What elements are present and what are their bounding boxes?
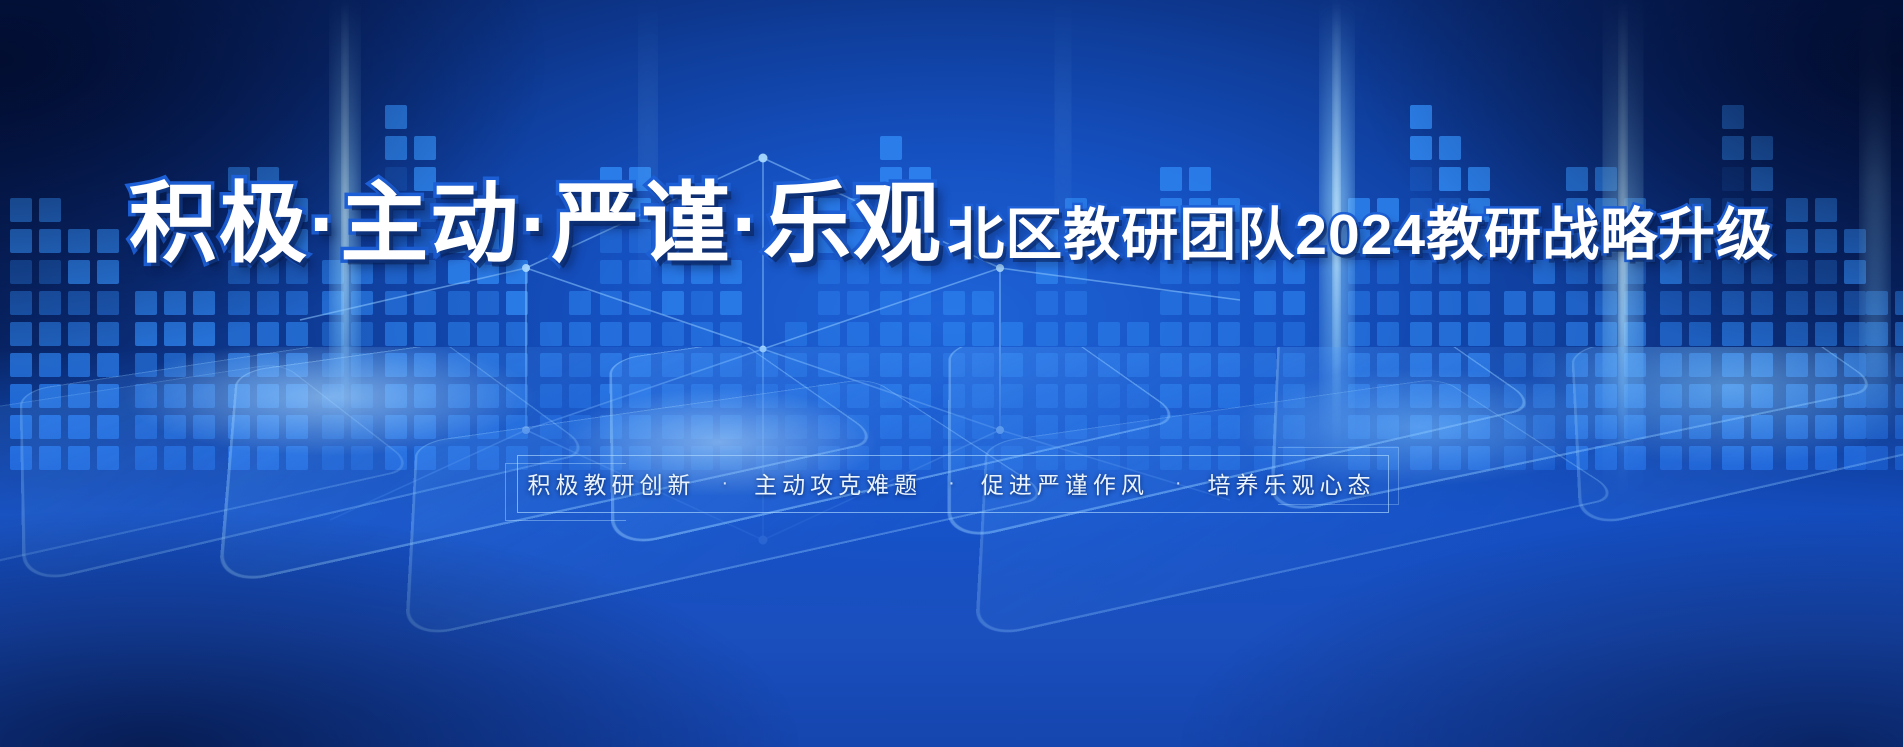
skyline-block: [68, 446, 90, 470]
skyline-block: [569, 384, 591, 408]
skyline-block: [691, 291, 713, 315]
skyline-block: [1160, 291, 1182, 315]
skyline-block: [1533, 446, 1555, 470]
skyline-bar: [1895, 291, 1903, 470]
skyline-block: [322, 384, 344, 408]
skyline-block: [691, 322, 713, 346]
skyline-block: [600, 322, 622, 346]
skyline-block: [10, 322, 32, 346]
skyline-block: [164, 291, 186, 315]
skyline-block: [785, 322, 807, 346]
skyline-block: [414, 136, 436, 160]
skyline-block: [1689, 446, 1711, 470]
skyline-block: [97, 384, 119, 408]
skyline-block: [97, 415, 119, 439]
skyline-bar: [193, 291, 215, 470]
skyline-block: [662, 353, 684, 377]
skyline-block: [1689, 415, 1711, 439]
skyline-block: [1189, 353, 1211, 377]
skyline-block: [1254, 384, 1276, 408]
skyline-block: [1844, 353, 1866, 377]
skyline-block: [1844, 291, 1866, 315]
skyline-block: [785, 353, 807, 377]
skyline-block: [1751, 415, 1773, 439]
skyline-block: [135, 291, 157, 315]
skyline-block: [756, 415, 778, 439]
skyline-block: [1786, 322, 1808, 346]
skyline-block: [1751, 446, 1773, 470]
skyline-block: [1722, 384, 1744, 408]
skyline-block: [164, 446, 186, 470]
skyline-block: [477, 415, 499, 439]
skyline-block: [1815, 415, 1837, 439]
skyline-block: [10, 353, 32, 377]
skyline-block: [1660, 322, 1682, 346]
skyline-block: [193, 322, 215, 346]
skyline-block: [1127, 322, 1149, 346]
skyline-block: [1410, 136, 1432, 160]
skyline-block: [972, 415, 994, 439]
skyline-block: [1786, 353, 1808, 377]
light-beams-decoration: [0, 0, 1903, 747]
skyline-block: [1001, 353, 1023, 377]
skyline-block: [322, 291, 344, 315]
skyline-block: [818, 415, 840, 439]
vignette-overlay: [0, 0, 1903, 747]
skyline-block: [1036, 353, 1058, 377]
skyline-block: [351, 291, 373, 315]
skyline-block: [506, 353, 528, 377]
skyline-block: [286, 322, 308, 346]
skyline-block: [1065, 322, 1087, 346]
skyline-block: [880, 415, 902, 439]
skyline-block: [1533, 291, 1555, 315]
skyline-block: [1468, 291, 1490, 315]
skyline-block: [164, 415, 186, 439]
skyline-block: [756, 384, 778, 408]
skyline-block: [569, 353, 591, 377]
banner-main-title: 积极·主动·严谨·乐观: [129, 180, 943, 268]
skyline-block: [1533, 353, 1555, 377]
skyline-block: [1254, 415, 1276, 439]
skyline-block: [1722, 415, 1744, 439]
skyline-block: [818, 322, 840, 346]
skyline-block: [600, 415, 622, 439]
skyline-block: [414, 353, 436, 377]
skyline-block: [629, 415, 651, 439]
skyline-block: [880, 322, 902, 346]
skyline-block: [1751, 353, 1773, 377]
skyline-block: [1377, 384, 1399, 408]
skyline-block: [1722, 105, 1744, 129]
skyline-block: [506, 322, 528, 346]
skyline-block: [540, 384, 562, 408]
skyline-block: [1468, 446, 1490, 470]
skyline-block: [1001, 322, 1023, 346]
skyline-block: [1283, 384, 1305, 408]
skyline-block: [286, 446, 308, 470]
skyline-block: [1722, 322, 1744, 346]
skyline-block: [1065, 384, 1087, 408]
skyline-block: [193, 291, 215, 315]
skyline-block: [1815, 291, 1837, 315]
skyline-block: [1377, 322, 1399, 346]
skyline-block: [972, 291, 994, 315]
skyline-block: [1348, 322, 1370, 346]
skyline-block: [1410, 353, 1432, 377]
skyline-block: [818, 353, 840, 377]
skyline-block: [1348, 415, 1370, 439]
skyline-block: [1410, 105, 1432, 129]
skyline-block: [1866, 415, 1888, 439]
skyline-block: [257, 415, 279, 439]
skyline-block: [351, 322, 373, 346]
skyline-block: [1065, 291, 1087, 315]
skyline-block: [351, 446, 373, 470]
tagline-item: 培养乐观心态: [1208, 466, 1376, 500]
skyline-block: [1844, 446, 1866, 470]
skyline-bar: [662, 260, 684, 470]
skyline-block: [1751, 384, 1773, 408]
skyline-block: [662, 322, 684, 346]
skyline-block: [1189, 384, 1211, 408]
skyline-block: [1036, 415, 1058, 439]
skyline-block: [662, 415, 684, 439]
skyline-block: [1566, 322, 1588, 346]
skyline-block: [1036, 322, 1058, 346]
skyline-block: [1468, 322, 1490, 346]
skyline-block: [1410, 446, 1432, 470]
skyline-block: [1533, 384, 1555, 408]
skyline-bar: [1410, 105, 1432, 470]
skyline-bar: [1533, 260, 1555, 470]
skyline-block: [10, 291, 32, 315]
promotional-banner: 积极·主动·严谨·乐观 北区教研团队2024教研战略升级 积极教研创新·主动攻克…: [0, 0, 1903, 747]
skyline-block: [1036, 291, 1058, 315]
skyline-block: [847, 415, 869, 439]
skyline-block: [720, 384, 742, 408]
banner-sub-title: 北区教研团队2024教研战略升级: [947, 207, 1774, 264]
skyline-block: [1218, 322, 1240, 346]
skyline-bar: [506, 260, 528, 470]
skyline-block: [1689, 384, 1711, 408]
skyline-block: [880, 291, 902, 315]
skyline-block: [785, 384, 807, 408]
skyline-block: [228, 353, 250, 377]
skyline-block: [972, 322, 994, 346]
skyline-block: [1439, 415, 1461, 439]
skyline-block: [629, 291, 651, 315]
skyline-block: [1595, 291, 1617, 315]
skyline-block: [1722, 136, 1744, 160]
skyline-block: [351, 415, 373, 439]
skyline-block: [39, 353, 61, 377]
skyline-block: [1660, 353, 1682, 377]
skyline-block: [569, 415, 591, 439]
skyline-bar: [785, 322, 807, 470]
skyline-block: [193, 415, 215, 439]
skyline-block: [322, 415, 344, 439]
skyline-block: [1348, 384, 1370, 408]
skyline-block: [68, 322, 90, 346]
skyline-block: [569, 291, 591, 315]
skyline-block: [1624, 415, 1646, 439]
skyline-block: [720, 415, 742, 439]
skyline-block: [385, 446, 407, 470]
skyline-block: [385, 291, 407, 315]
skyline-block: [506, 291, 528, 315]
skyline-block: [164, 384, 186, 408]
skyline-block: [1377, 415, 1399, 439]
skyline-bar: [943, 291, 965, 470]
skyline-bar: [540, 322, 562, 470]
skyline-block: [257, 291, 279, 315]
skyline-block: [1283, 322, 1305, 346]
skyline-block: [39, 384, 61, 408]
skyline-block: [1504, 415, 1526, 439]
skyline-block: [385, 353, 407, 377]
skyline-block: [68, 291, 90, 315]
skyline-bar: [164, 291, 186, 470]
skyline-bar: [1283, 260, 1305, 470]
skyline-block: [1866, 384, 1888, 408]
skyline-block: [1566, 291, 1588, 315]
skyline-block: [943, 384, 965, 408]
tagline-item: 积极教研创新: [527, 466, 695, 500]
skyline-block: [228, 384, 250, 408]
skyline-bar: [322, 260, 344, 470]
skyline-block: [257, 353, 279, 377]
skyline-block: [1595, 415, 1617, 439]
skyline-block: [691, 353, 713, 377]
skyline-block: [1815, 353, 1837, 377]
skyline-block: [1377, 353, 1399, 377]
skyline-block: [385, 384, 407, 408]
skyline-block: [1566, 384, 1588, 408]
skyline-block: [477, 384, 499, 408]
skyline-block: [909, 415, 931, 439]
skyline-block: [1895, 353, 1903, 377]
skyline-block: [1439, 291, 1461, 315]
skyline-block: [506, 415, 528, 439]
skyline-block: [477, 322, 499, 346]
skyline-block: [1348, 291, 1370, 315]
skyline-block: [1815, 446, 1837, 470]
skyline-block: [448, 353, 470, 377]
skyline-block: [1189, 322, 1211, 346]
skyline-block: [629, 353, 651, 377]
skyline-block: [1866, 291, 1888, 315]
skyline-block: [1410, 322, 1432, 346]
skyline-block: [1504, 322, 1526, 346]
skyline-block: [1098, 353, 1120, 377]
tagline-text: 积极教研创新·主动攻克难题·促进严谨作风·培养乐观心态: [517, 455, 1387, 511]
skyline-block: [1410, 384, 1432, 408]
skyline-block: [1895, 291, 1903, 315]
tagline-separator: ·: [1175, 472, 1182, 495]
skyline-block: [414, 291, 436, 315]
skyline-block: [1660, 291, 1682, 315]
skyline-block: [97, 322, 119, 346]
skyline-block: [1751, 291, 1773, 315]
skyline-block: [322, 322, 344, 346]
skyline-block: [1566, 353, 1588, 377]
skyline-block: [97, 446, 119, 470]
skyline-block: [1624, 291, 1646, 315]
skyline-block: [720, 322, 742, 346]
skyline-block: [10, 446, 32, 470]
skyline-block: [286, 291, 308, 315]
skyline-bar: [756, 353, 778, 470]
skyline-block: [1595, 322, 1617, 346]
tagline-separator: ·: [948, 472, 955, 495]
skyline-block: [385, 415, 407, 439]
skyline-block: [1439, 384, 1461, 408]
skyline-block: [943, 291, 965, 315]
skyline-block: [414, 384, 436, 408]
skyline-bar: [1001, 322, 1023, 470]
skyline-block: [135, 446, 157, 470]
skyline-block: [1689, 353, 1711, 377]
skyline-block: [600, 353, 622, 377]
skyline-bar: [1866, 291, 1888, 470]
skyline-block: [10, 415, 32, 439]
skyline-block: [1533, 322, 1555, 346]
skyline-block: [1722, 353, 1744, 377]
skyline-block: [972, 353, 994, 377]
skyline-block: [1098, 415, 1120, 439]
skyline-block: [1722, 446, 1744, 470]
skyline-block: [322, 353, 344, 377]
skyline-block: [193, 446, 215, 470]
skyline-block: [228, 291, 250, 315]
skyline-block: [1160, 384, 1182, 408]
skyline-block: [1595, 384, 1617, 408]
skyline-block: [880, 384, 902, 408]
skyline-block: [68, 415, 90, 439]
skyline-block: [322, 446, 344, 470]
skyline-block: [1722, 291, 1744, 315]
skyline-block: [477, 291, 499, 315]
skyline-bar: [569, 291, 591, 470]
skyline-block: [1844, 415, 1866, 439]
skyline-block: [1786, 415, 1808, 439]
skyline-block: [1189, 291, 1211, 315]
skyline-block: [880, 136, 902, 160]
skyline-block: [228, 322, 250, 346]
skyline-block: [1098, 384, 1120, 408]
skyline-block: [1815, 384, 1837, 408]
skyline-block: [1218, 384, 1240, 408]
skyline-block: [880, 353, 902, 377]
skyline-block: [1377, 291, 1399, 315]
skyline-bar: [351, 260, 373, 470]
skyline-block: [414, 415, 436, 439]
skyline-block: [1065, 415, 1087, 439]
skyline-block: [629, 384, 651, 408]
skyline-bar: [135, 291, 157, 470]
skyline-block: [1624, 322, 1646, 346]
skyline-block: [1624, 446, 1646, 470]
skyline-block: [1127, 353, 1149, 377]
tagline-item: 主动攻克难题: [754, 466, 922, 500]
skyline-block: [1844, 384, 1866, 408]
skyline-block: [1895, 322, 1903, 346]
skyline-block: [1533, 415, 1555, 439]
skyline-block: [720, 291, 742, 315]
skyline-block: [1439, 136, 1461, 160]
skyline-block: [39, 291, 61, 315]
skyline-block: [164, 322, 186, 346]
skyline-block: [1001, 384, 1023, 408]
skyline-block: [1283, 291, 1305, 315]
skyline-block: [135, 322, 157, 346]
skyline-block: [477, 353, 499, 377]
perspective-floor-decoration: [0, 347, 1903, 747]
skyline-block: [1127, 384, 1149, 408]
tagline-separator: ·: [721, 472, 728, 495]
skyline-block: [97, 291, 119, 315]
skyline-block: [600, 384, 622, 408]
skyline-block: [448, 446, 470, 470]
skyline-block: [540, 353, 562, 377]
skyline-block: [1001, 415, 1023, 439]
skyline-block: [943, 415, 965, 439]
skyline-block: [10, 384, 32, 408]
skyline-block: [1218, 291, 1240, 315]
skyline-block: [1410, 415, 1432, 439]
skyline-block: [1786, 291, 1808, 315]
skyline-block: [1595, 446, 1617, 470]
skyline-block: [1504, 353, 1526, 377]
skyline-block: [385, 105, 407, 129]
skyline-block: [286, 353, 308, 377]
skyline-block: [193, 384, 215, 408]
skyline-block: [847, 322, 869, 346]
skyline-block: [1160, 353, 1182, 377]
skyline-block: [1751, 136, 1773, 160]
skyline-block: [1160, 415, 1182, 439]
skyline-block: [1504, 291, 1526, 315]
skyline-block: [691, 384, 713, 408]
skyline-block: [448, 291, 470, 315]
skyline-block: [228, 446, 250, 470]
skyline-block: [662, 291, 684, 315]
skyline-bar: [972, 291, 994, 470]
skyline-block: [909, 353, 931, 377]
skyline-block: [1439, 322, 1461, 346]
skyline-block: [414, 446, 436, 470]
skyline-block: [569, 322, 591, 346]
skyline-block: [414, 322, 436, 346]
headline-block: 积极·主动·严谨·乐观 北区教研团队2024教研战略升级: [0, 180, 1903, 268]
skyline-block: [1218, 353, 1240, 377]
skyline-block: [691, 415, 713, 439]
skyline-block: [1439, 446, 1461, 470]
skyline-block: [1127, 415, 1149, 439]
tagline-item: 促进严谨作风: [981, 466, 1149, 500]
skyline-block: [1283, 415, 1305, 439]
skyline-block: [257, 446, 279, 470]
skyline-block: [1895, 415, 1903, 439]
skyline-bar: [1127, 322, 1149, 470]
skyline-block: [286, 384, 308, 408]
skyline-block: [1160, 322, 1182, 346]
skyline-block: [1660, 384, 1682, 408]
skyline-block: [68, 384, 90, 408]
skyline-block: [1844, 322, 1866, 346]
skyline-block: [662, 384, 684, 408]
